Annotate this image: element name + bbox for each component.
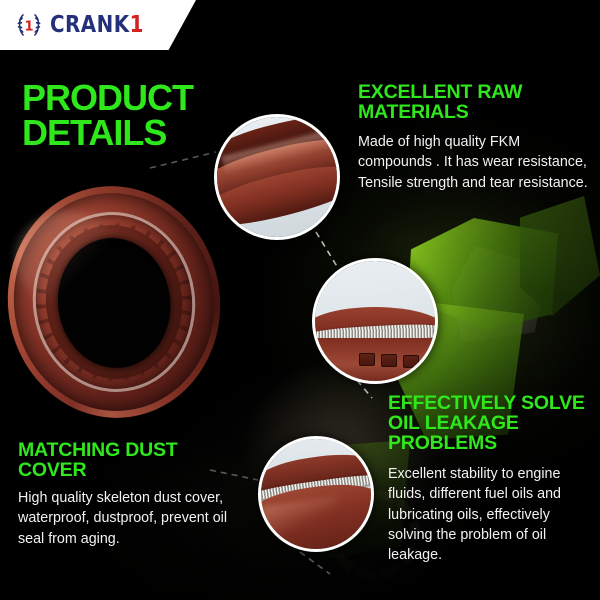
brand-wordmark: CRANK1 xyxy=(50,14,144,37)
seal-tab-1 xyxy=(359,353,375,366)
seal-tab-3 xyxy=(403,355,419,368)
feature-heading-raw-materials: EXCELLENT RAW MATERIALS xyxy=(358,82,596,122)
oil-seal-product-image xyxy=(0,172,235,431)
seal-lower-face xyxy=(312,338,438,384)
crank1-logo[interactable]: 1 CRANK1 xyxy=(0,10,146,40)
feature-heading-dust-cover: MATCHING DUST COVER xyxy=(18,440,228,480)
brand-name-main: CRANK xyxy=(50,12,130,38)
wreath-number: 1 xyxy=(24,20,33,35)
zoom-callout-garter-spring xyxy=(312,258,438,384)
feature-heading-oil-leakage: EFFECTIVELY SOLVE OIL LEAKAGE PROBLEMS xyxy=(388,393,598,453)
product-details-infographic: 1 CRANK1 PRODUCT DETAILS EXCELLENT RAW M… xyxy=(0,0,600,600)
zoom-callout-raw-material-edge xyxy=(214,114,340,240)
brand-name-accent: 1 xyxy=(130,12,144,38)
feature-body-oil-leakage: Excellent stability to engine fluids, di… xyxy=(388,464,584,565)
brand-header-banner: 1 CRANK1 xyxy=(0,0,196,50)
feature-body-dust-cover: High quality skeleton dust cover, waterp… xyxy=(18,488,228,549)
feature-body-raw-materials: Made of high quality FKM compounds . It … xyxy=(358,132,594,193)
seal-tab-2 xyxy=(381,354,397,367)
laurel-wreath-icon: 1 xyxy=(14,10,44,40)
zoom-callout-seal-lip xyxy=(258,436,374,552)
